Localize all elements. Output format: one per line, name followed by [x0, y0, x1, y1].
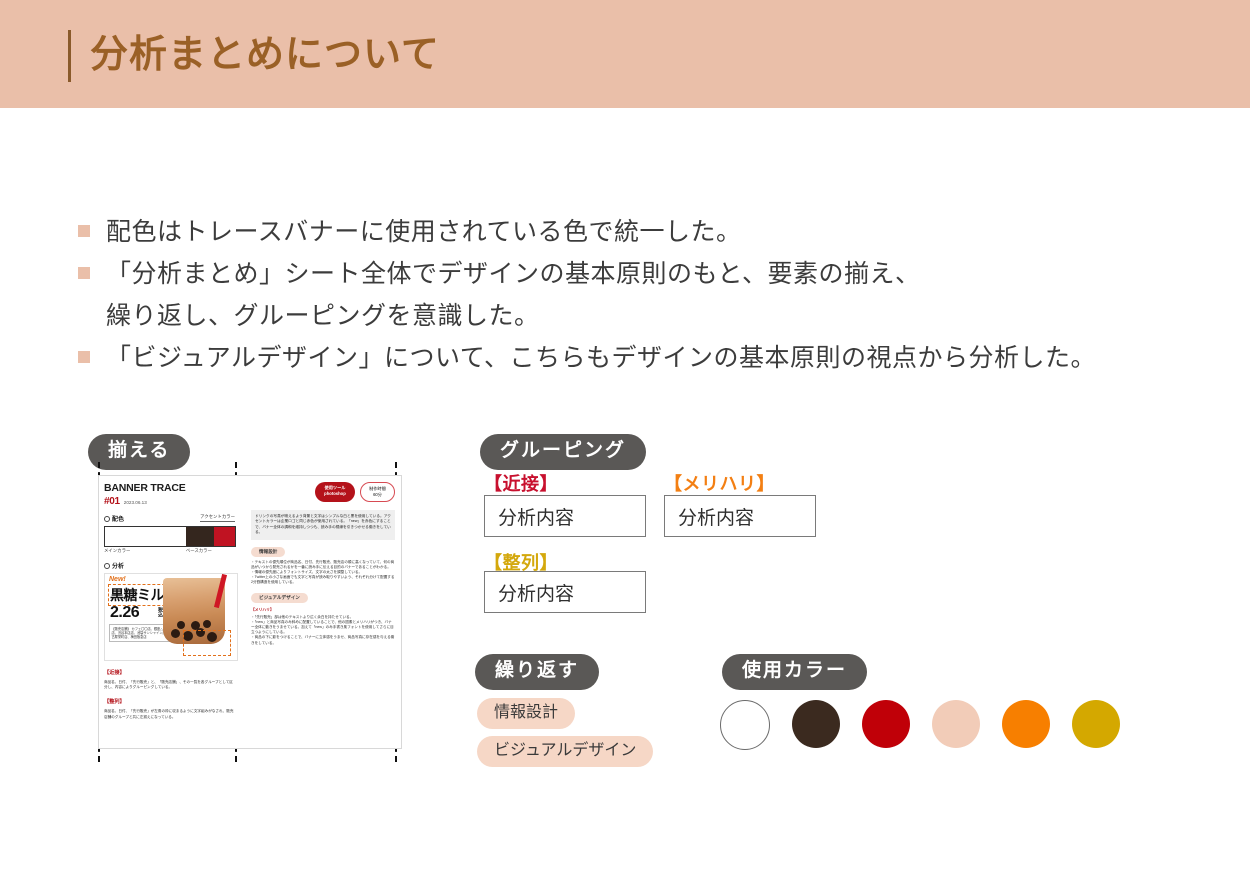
summary-bullet-list: 配色はトレースバナーに使用されている色で統一した。 「分析まとめ」シート全体でデ…: [78, 212, 1198, 380]
swatch-caption-main: メインカラー: [104, 548, 186, 554]
bullet-spacer: [78, 309, 90, 321]
boba-pearl: [203, 620, 211, 628]
doc-kinsetsu-text: 商品名、日付、「先行販売」と、「販売店舗」、その一覧を各グループとして区分し、内…: [104, 680, 236, 690]
bullet-text: 「分析まとめ」シート全体でデザインの基本原則のもと、要素の揃え、: [106, 254, 921, 294]
bullet-item: 配色はトレースバナーに使用されている色で統一した。: [78, 212, 1198, 252]
section-pill-grouping: グルーピング: [480, 434, 646, 470]
badge-tool: 使用ツール photoshop: [315, 482, 355, 502]
badge-time: 制作時間 60分: [360, 482, 395, 502]
title-accent-bar: [68, 30, 71, 82]
repeat-tag-information-design: 情報設計: [477, 698, 575, 729]
bullet-text: 「ビジュアルデザイン」について、こちらもデザインの基本原則の視点から分析した。: [106, 338, 1096, 378]
bullet-square-icon: [78, 267, 90, 279]
analysis-box-kinsetsu[interactable]: 分析内容: [484, 495, 646, 537]
badge-time-line2: 60分: [361, 492, 394, 498]
accent-color-note: アクセントカラー: [200, 514, 235, 522]
banner-trace-thumbnail: BANNER TRACE #01 2023.06.13 配色 アクセントカラー …: [88, 462, 410, 762]
color-dot-gold: [1072, 700, 1120, 748]
swatch-caption-base: ベースカラー: [186, 548, 236, 554]
group-label-kinsetsu: 【近接】: [484, 470, 558, 496]
doc-visual-design-head: ビジュアルデザイン: [251, 593, 308, 603]
bullet-item: 「ビジュアルデザイン」について、こちらもデザインの基本原則の視点から分析した。: [78, 338, 1198, 378]
doc-seiretsu-text: 商品名、日付、「先行販売」が左角の枠に収まるように文字組みがなされ、販売店舗のグ…: [104, 709, 236, 719]
analysis-box-seiretsu[interactable]: 分析内容: [484, 571, 646, 613]
doc-visual-design-sub: 【メリハリ】: [251, 608, 395, 613]
doc-seiretsu-head: 【整列】: [104, 698, 125, 705]
doc-section-color-label: 配色: [112, 514, 124, 523]
trace-document-page: BANNER TRACE #01 2023.06.13 配色 アクセントカラー …: [98, 475, 402, 749]
page-title: 分析まとめについて: [90, 26, 440, 84]
color-dot-orange: [1002, 700, 1050, 748]
color-dot-white: [720, 700, 770, 750]
circle-bullet-icon: [104, 516, 110, 522]
used-color-swatches: [720, 700, 1120, 750]
bullet-square-icon: [78, 351, 90, 363]
repeat-tag-visual-design: ビジュアルデザイン: [477, 736, 653, 767]
doc-number: #01: [104, 496, 120, 507]
color-dot-peach: [932, 700, 980, 748]
bullet-item-continuation: 繰り返し、グルーピングを意識した。: [78, 296, 1198, 336]
doc-section-analysis-label: 分析: [112, 561, 124, 570]
doc-intro-text: ドリンクの写真が映えるよう背景と文字はシンプルな白と黒を使用している。アクセント…: [251, 510, 395, 540]
boba-pearl: [171, 629, 180, 638]
traced-banner-image: New! 黒糖ミルク 2.26 税込 先行 発売 【販売店舗】 カフェ〇〇店、銀…: [104, 573, 238, 661]
section-pill-used-colors: 使用カラー: [722, 654, 867, 690]
doc-meta-badges: 使用ツール photoshop 制作時間 60分: [251, 482, 395, 502]
boba-pearl: [191, 621, 200, 630]
color-dot-crimson: [862, 700, 910, 748]
bullet-square-icon: [78, 225, 90, 237]
banner-price: 2.26: [110, 604, 139, 622]
doc-kinsetsu-head: 【近接】: [104, 669, 125, 676]
badge-tool-line2: photoshop: [315, 491, 355, 497]
doc-right-column: 使用ツール photoshop 制作時間 60分 ドリンクの写真が映えるよう背景…: [251, 482, 395, 646]
doc-left-column: BANNER TRACE #01 2023.06.13 配色 アクセントカラー …: [104, 482, 236, 720]
doc-date: 2023.06.13: [124, 500, 147, 505]
group-label-merihari: 【メリハリ】: [664, 470, 775, 496]
swatch-white: [105, 527, 186, 546]
page-header-band: 分析まとめについて: [0, 0, 1250, 108]
swatch-captions: メインカラー ベースカラー: [104, 548, 236, 554]
bullet-text: 配色はトレースバナーに使用されている色で統一した。: [106, 212, 742, 252]
bullet-text: 繰り返し、グルーピングを意識した。: [106, 296, 540, 336]
doc-visual-design-items: ・「先行販売」部は他のテキストより広く余白を持たせている。 ・「new」と商品写…: [251, 615, 395, 646]
color-dot-dark-brown: [792, 700, 840, 748]
banner-new-label: New!: [109, 576, 126, 583]
banner-photo-guide-box: [183, 630, 231, 656]
color-swatch-bar: [104, 526, 236, 547]
doc-info-design-items: ・テキストの優先順位が商品名、日付、先行販売、販売店の順に高くなっていて、何の商…: [251, 560, 395, 586]
analysis-box-merihari[interactable]: 分析内容: [664, 495, 816, 537]
section-pill-repeat: 繰り返す: [475, 654, 599, 690]
swatch-red: [214, 527, 235, 546]
doc-title: BANNER TRACE: [104, 482, 236, 495]
swatch-dark-brown: [186, 527, 215, 546]
doc-number-row: #01 2023.06.13: [104, 496, 236, 507]
doc-info-design-head: 情報設計: [251, 547, 285, 557]
boba-pearl: [177, 621, 185, 629]
circle-bullet-icon: [104, 563, 110, 569]
doc-section-analysis: 分析: [104, 561, 236, 570]
bullet-item: 「分析まとめ」シート全体でデザインの基本原則のもと、要素の揃え、: [78, 254, 1198, 294]
